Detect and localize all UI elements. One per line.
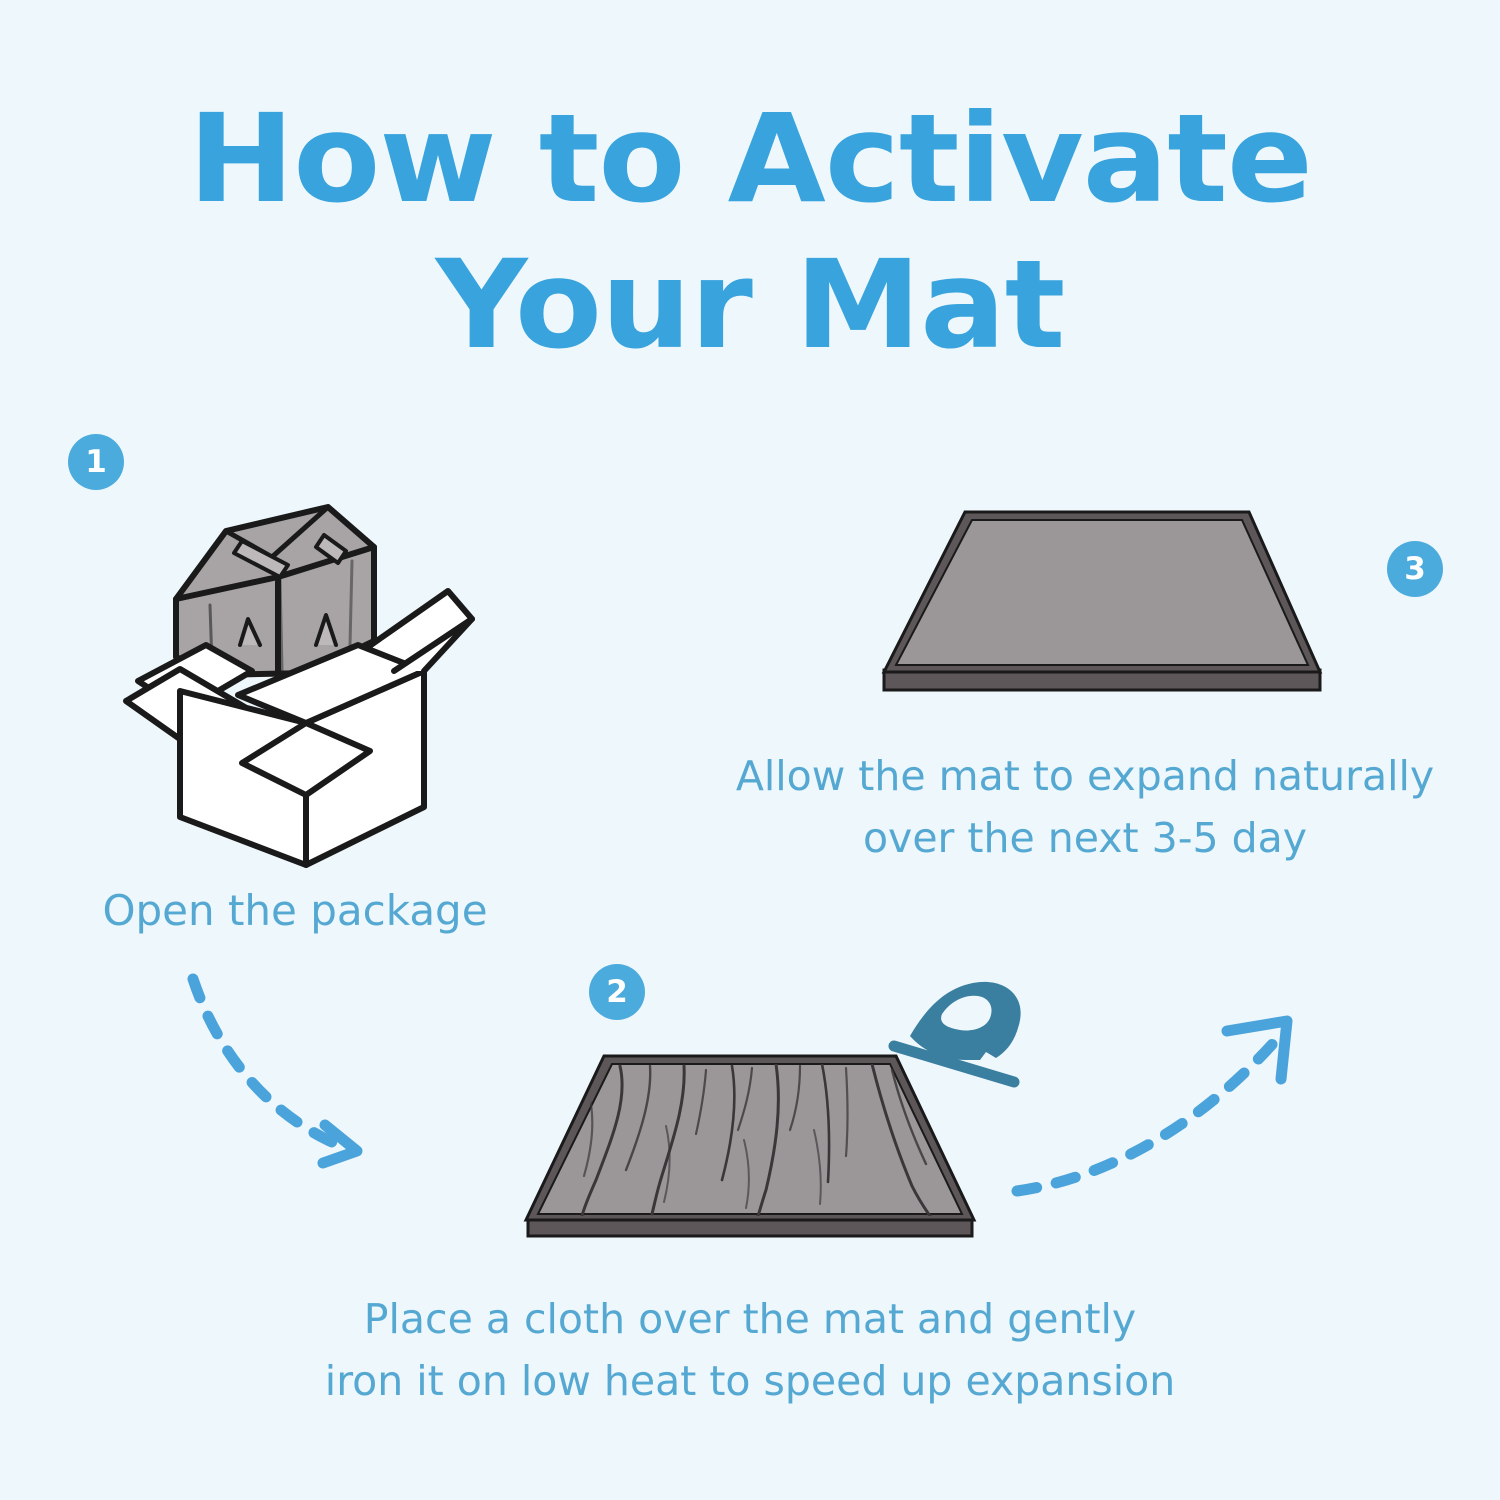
page-title-line-1: How to Activate <box>0 86 1500 232</box>
step-badge-3: 3 <box>1387 541 1443 597</box>
open-box-illustration <box>120 495 490 865</box>
dashed-curved-arrow-up-right-icon <box>1005 995 1345 1235</box>
step-3-caption: Allow the mat to expand naturally over t… <box>690 745 1480 869</box>
dashed-curved-arrow-down-right-icon <box>175 965 505 1200</box>
step-2-caption: Place a cloth over the mat and gently ir… <box>230 1288 1270 1412</box>
arrow-head <box>1227 1021 1287 1079</box>
page-title: How to Activate Your Mat <box>0 86 1500 378</box>
step-badge-1: 1 <box>68 434 124 490</box>
infographic-canvas: How to Activate Your Mat 1 <box>0 0 1500 1500</box>
expanded-mat-illustration <box>862 482 1342 712</box>
step-1-caption: Open the package <box>40 880 550 942</box>
page-title-line-2: Your Mat <box>0 232 1500 378</box>
step-badge-2: 2 <box>589 964 645 1020</box>
